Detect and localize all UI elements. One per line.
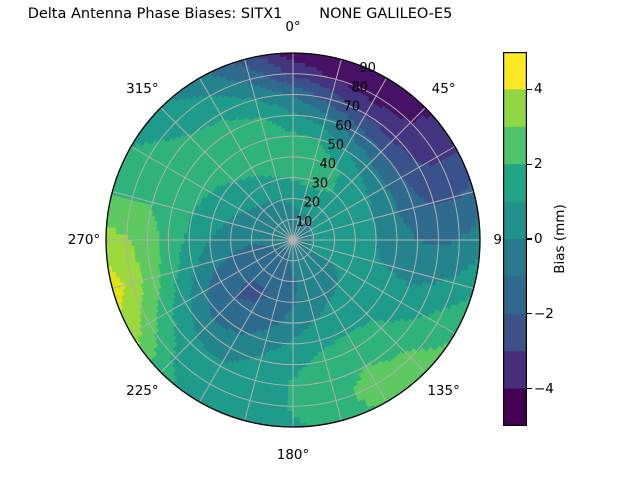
colorbar-band (503, 239, 527, 277)
colorbar-axis-label: Bias (mm) (552, 204, 568, 273)
colorbar-band (503, 127, 527, 165)
colorbar-tick-label: 0 (534, 231, 543, 247)
colorbar-band (503, 89, 527, 127)
colorbar (503, 52, 527, 426)
radial-tick-label: 40 (320, 157, 337, 172)
colorbar-band (503, 276, 527, 314)
colorbar-tick-label: 2 (534, 156, 543, 172)
colorbar-gradient (503, 52, 527, 426)
polar-gridlines (106, 53, 480, 427)
colorbar-tick-label: 4 (534, 81, 543, 97)
azimuth-tick-label-270: 270° (68, 232, 101, 248)
colorbar-band (503, 164, 527, 202)
radial-tick-label: 10 (296, 215, 313, 230)
radial-tick-label: 20 (304, 196, 321, 211)
colorbar-band (503, 351, 527, 389)
radial-tick-label: 70 (343, 100, 360, 115)
radial-tick-label: 50 (328, 138, 345, 153)
figure-canvas: Delta Antenna Phase Biases: SITX1 NONE G… (0, 0, 640, 480)
azimuth-tick-label-180: 180° (277, 447, 310, 463)
colorbar-tick-mark (527, 313, 532, 314)
colorbar-tick-label: −4 (534, 381, 554, 397)
azimuth-tick-label-315: 315° (126, 81, 159, 97)
colorbar-tick-mark (527, 238, 532, 239)
colorbar-tick-label: −2 (534, 306, 554, 322)
colorbar-band (503, 389, 527, 426)
azimuth-tick-label-45: 45° (432, 81, 456, 97)
radial-tick-label: 60 (335, 119, 352, 134)
radial-tick-label: 90 (359, 61, 376, 76)
colorbar-tick-mark (527, 388, 532, 389)
colorbar-band (503, 314, 527, 352)
colorbar-band (503, 202, 527, 240)
colorbar-tick-mark (527, 89, 532, 90)
radial-tick-label: 30 (312, 176, 329, 191)
azimuth-tick-label-225: 225° (126, 383, 159, 399)
colorbar-band (503, 52, 527, 90)
colorbar-tick-mark (527, 164, 532, 165)
azimuth-tick-label-0: 0° (285, 19, 300, 35)
radial-tick-label: 80 (351, 80, 368, 95)
azimuth-tick-label-135: 135° (427, 383, 460, 399)
